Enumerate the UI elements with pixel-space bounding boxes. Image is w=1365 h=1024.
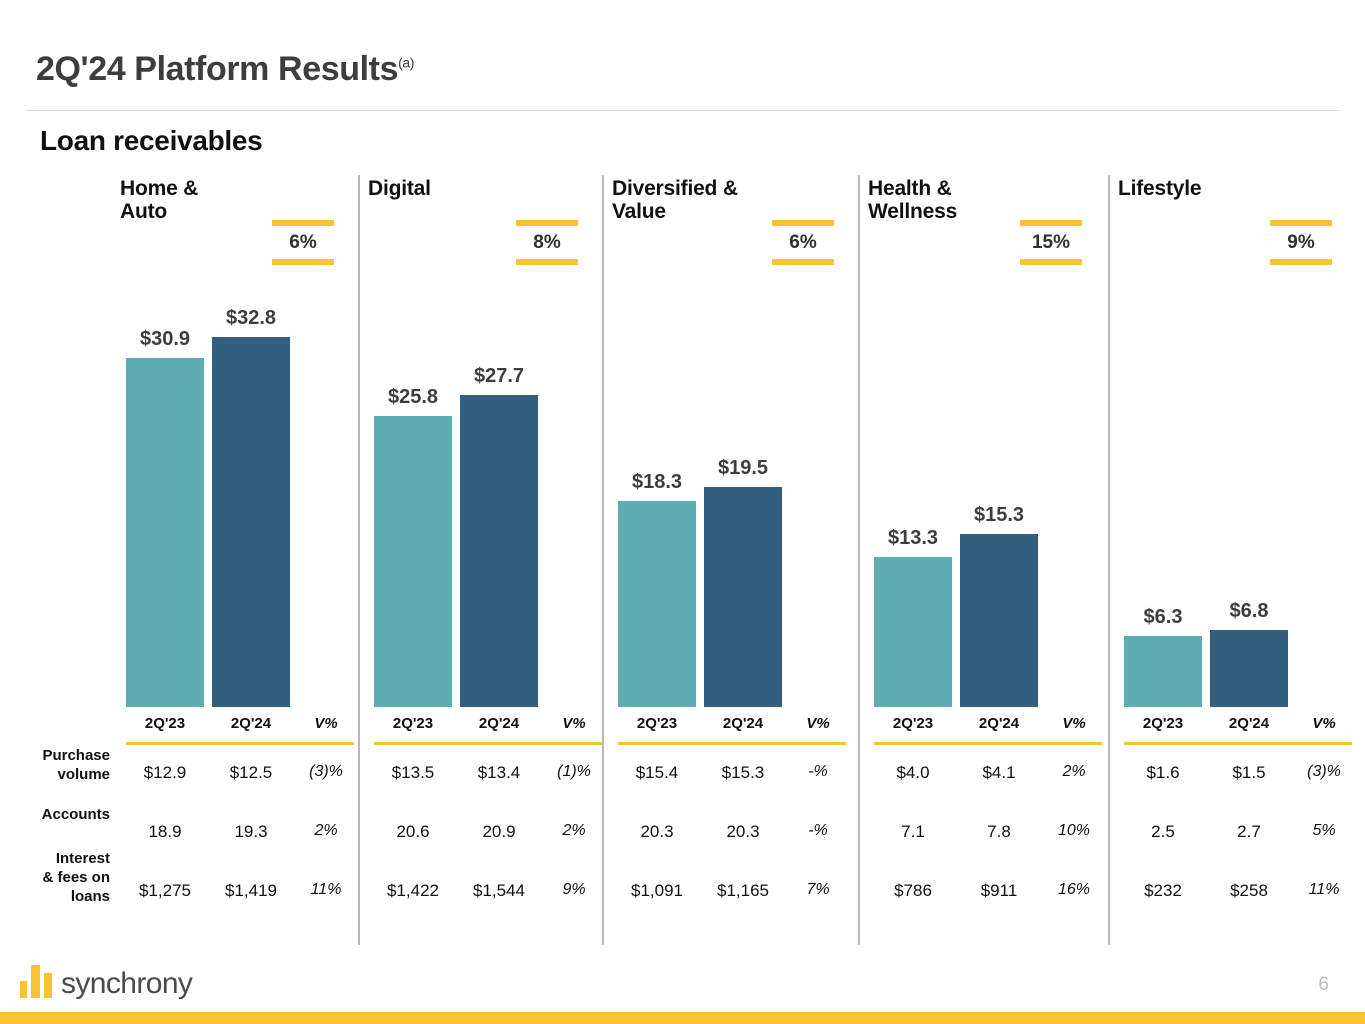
column-header-v: V% — [546, 715, 602, 732]
page-title: 2Q'24 Platform Results(a) — [36, 50, 414, 89]
table-header-rule — [874, 742, 1102, 745]
cell-diversified-value-r2-y24: 20.3 — [704, 822, 782, 842]
page-title-text: 2Q'24 Platform Results — [36, 50, 398, 88]
cell-lifestyle-r1-y24: $1.5 — [1210, 763, 1288, 783]
panel-divider-3 — [858, 175, 860, 945]
column-header-2q24: 2Q'24 — [960, 715, 1038, 732]
cell-health-wellness-r3-y24: $911 — [960, 881, 1038, 901]
column-header-2q24: 2Q'24 — [460, 715, 538, 732]
bar-health-wellness-prior — [874, 557, 952, 707]
logo-bar-3 — [44, 973, 52, 998]
cell-home-auto-r2-y23: 18.9 — [126, 822, 204, 842]
cell-lifestyle-r1-v: (3)% — [1296, 763, 1352, 781]
column-header-2q23: 2Q'23 — [126, 715, 204, 732]
cell-home-auto-r3-y23: $1,275 — [126, 881, 204, 901]
bar-chart-lifestyle: $6.3$6.8 — [1118, 170, 1350, 707]
slide: 2Q'24 Platform Results(a) Loan receivabl… — [0, 0, 1365, 1024]
bar-value-label-health-wellness-current: $15.3 — [960, 504, 1038, 527]
bar-chart-health-wellness: $13.3$15.3 — [868, 170, 1100, 707]
bar-value-label-home-auto-prior: $30.9 — [126, 328, 204, 351]
bar-value-label-home-auto-current: $32.8 — [212, 307, 290, 330]
cell-lifestyle-r2-v: 5% — [1296, 822, 1352, 840]
cell-lifestyle-r2-y24: 2.7 — [1210, 822, 1288, 842]
cell-home-auto-r1-y23: $12.9 — [126, 763, 204, 783]
bar-value-label-digital-current: $27.7 — [460, 365, 538, 388]
cell-digital-r3-y24: $1,544 — [460, 881, 538, 901]
logo-bar-2 — [31, 965, 40, 998]
cell-home-auto-r1-y24: $12.5 — [212, 763, 290, 783]
cell-diversified-value-r1-v: -% — [790, 763, 846, 781]
cell-health-wellness-r3-v: 16% — [1046, 881, 1102, 899]
cell-diversified-value-r3-y23: $1,091 — [618, 881, 696, 901]
bar-home-auto-current — [212, 337, 290, 707]
column-header-v: V% — [298, 715, 354, 732]
cell-home-auto-r1-v: (3)% — [298, 763, 354, 781]
cell-home-auto-r3-v: 11% — [298, 881, 354, 899]
table-header-rule — [1124, 742, 1352, 745]
panel-divider-1 — [358, 175, 360, 945]
panel-home-auto: Home & Auto6%$30.9$32.82Q'232Q'24V%$12.9… — [120, 170, 352, 945]
bar-value-label-diversified-value-prior: $18.3 — [618, 471, 696, 494]
column-header-2q23: 2Q'23 — [374, 715, 452, 732]
panel-lifestyle: Lifestyle9%$6.3$6.82Q'232Q'24V%$1.6$1.5(… — [1118, 170, 1350, 945]
column-header-v: V% — [790, 715, 846, 732]
bar-value-label-lifestyle-prior: $6.3 — [1124, 606, 1202, 629]
cell-home-auto-r3-y24: $1,419 — [212, 881, 290, 901]
cell-health-wellness-r2-y23: 7.1 — [874, 822, 952, 842]
bar-chart-home-auto: $30.9$32.8 — [120, 170, 352, 707]
cell-home-auto-r2-y24: 19.3 — [212, 822, 290, 842]
cell-lifestyle-r1-y23: $1.6 — [1124, 763, 1202, 783]
cell-diversified-value-r1-y24: $15.3 — [704, 763, 782, 783]
cell-diversified-value-r3-v: 7% — [790, 881, 846, 899]
row-label-purchase-volume: Purchase volume — [5, 747, 110, 785]
table-header-rule — [618, 742, 846, 745]
panel-diversified-value: Diversified & Value6%$18.3$19.52Q'232Q'2… — [612, 170, 852, 945]
cell-lifestyle-r3-y24: $258 — [1210, 881, 1288, 901]
synchrony-logo: synchrony — [20, 964, 192, 998]
cell-lifestyle-r2-y23: 2.5 — [1124, 822, 1202, 842]
cell-digital-r2-v: 2% — [546, 822, 602, 840]
column-header-2q23: 2Q'23 — [874, 715, 952, 732]
column-header-2q23: 2Q'23 — [618, 715, 696, 732]
table-header-rule — [126, 742, 354, 745]
cell-digital-r1-y23: $13.5 — [374, 763, 452, 783]
cell-diversified-value-r2-v: -% — [790, 822, 846, 840]
bar-value-label-lifestyle-current: $6.8 — [1210, 600, 1288, 623]
bar-lifestyle-prior — [1124, 636, 1202, 707]
bar-home-auto-prior — [126, 358, 204, 707]
cell-lifestyle-r3-y23: $232 — [1124, 881, 1202, 901]
section-subtitle: Loan receivables — [40, 125, 262, 157]
cell-health-wellness-r2-y24: 7.8 — [960, 822, 1038, 842]
page-number: 6 — [1318, 974, 1329, 996]
cell-diversified-value-r2-y23: 20.3 — [618, 822, 696, 842]
panel-digital: Digital8%$25.8$27.72Q'232Q'24V%$13.5$13.… — [368, 170, 596, 945]
column-header-2q24: 2Q'24 — [212, 715, 290, 732]
logo-bar-1 — [20, 981, 27, 998]
panel-divider-2 — [602, 175, 604, 945]
cell-health-wellness-r1-y23: $4.0 — [874, 763, 952, 783]
bar-diversified-value-current — [704, 487, 782, 707]
bar-lifestyle-current — [1210, 630, 1288, 707]
bar-digital-current — [460, 395, 538, 707]
panel-health-wellness: Health & Wellness15%$13.3$15.32Q'232Q'24… — [868, 170, 1100, 945]
cell-health-wellness-r1-y24: $4.1 — [960, 763, 1038, 783]
cell-digital-r2-y24: 20.9 — [460, 822, 538, 842]
cell-diversified-value-r1-y23: $15.4 — [618, 763, 696, 783]
cell-digital-r1-y24: $13.4 — [460, 763, 538, 783]
cell-health-wellness-r3-y23: $786 — [874, 881, 952, 901]
table-header-rule — [374, 742, 602, 745]
row-label-interest-fees-on-loans: Interest & fees on loans — [5, 850, 110, 906]
bar-value-label-health-wellness-prior: $13.3 — [874, 527, 952, 550]
title-divider — [26, 110, 1339, 111]
cell-diversified-value-r3-y24: $1,165 — [704, 881, 782, 901]
column-header-2q24: 2Q'24 — [704, 715, 782, 732]
bar-digital-prior — [374, 416, 452, 707]
cell-lifestyle-r3-v: 11% — [1296, 881, 1352, 899]
bar-chart-diversified-value: $18.3$19.5 — [612, 170, 852, 707]
cell-digital-r2-y23: 20.6 — [374, 822, 452, 842]
column-header-2q23: 2Q'23 — [1124, 715, 1202, 732]
panel-divider-4 — [1108, 175, 1110, 945]
cell-digital-r3-y23: $1,422 — [374, 881, 452, 901]
logo-mark-icon — [20, 964, 52, 998]
bar-diversified-value-prior — [618, 501, 696, 707]
bar-chart-digital: $25.8$27.7 — [368, 170, 596, 707]
column-header-v: V% — [1046, 715, 1102, 732]
cell-home-auto-r2-v: 2% — [298, 822, 354, 840]
bar-health-wellness-current — [960, 534, 1038, 707]
platform-panels: Home & Auto6%$30.9$32.82Q'232Q'24V%$12.9… — [0, 170, 1365, 945]
footer-accent-bar — [0, 1012, 1365, 1024]
cell-health-wellness-r2-v: 10% — [1046, 822, 1102, 840]
bar-value-label-digital-prior: $25.8 — [374, 386, 452, 409]
column-header-2q24: 2Q'24 — [1210, 715, 1288, 732]
bar-value-label-diversified-value-current: $19.5 — [704, 457, 782, 480]
footnote-marker: (a) — [398, 55, 414, 71]
logo-wordmark: synchrony — [61, 970, 192, 999]
cell-digital-r3-v: 9% — [546, 881, 602, 899]
row-label-accounts: Accounts — [5, 806, 110, 825]
cell-digital-r1-v: (1)% — [546, 763, 602, 781]
cell-health-wellness-r1-v: 2% — [1046, 763, 1102, 781]
column-header-v: V% — [1296, 715, 1352, 732]
